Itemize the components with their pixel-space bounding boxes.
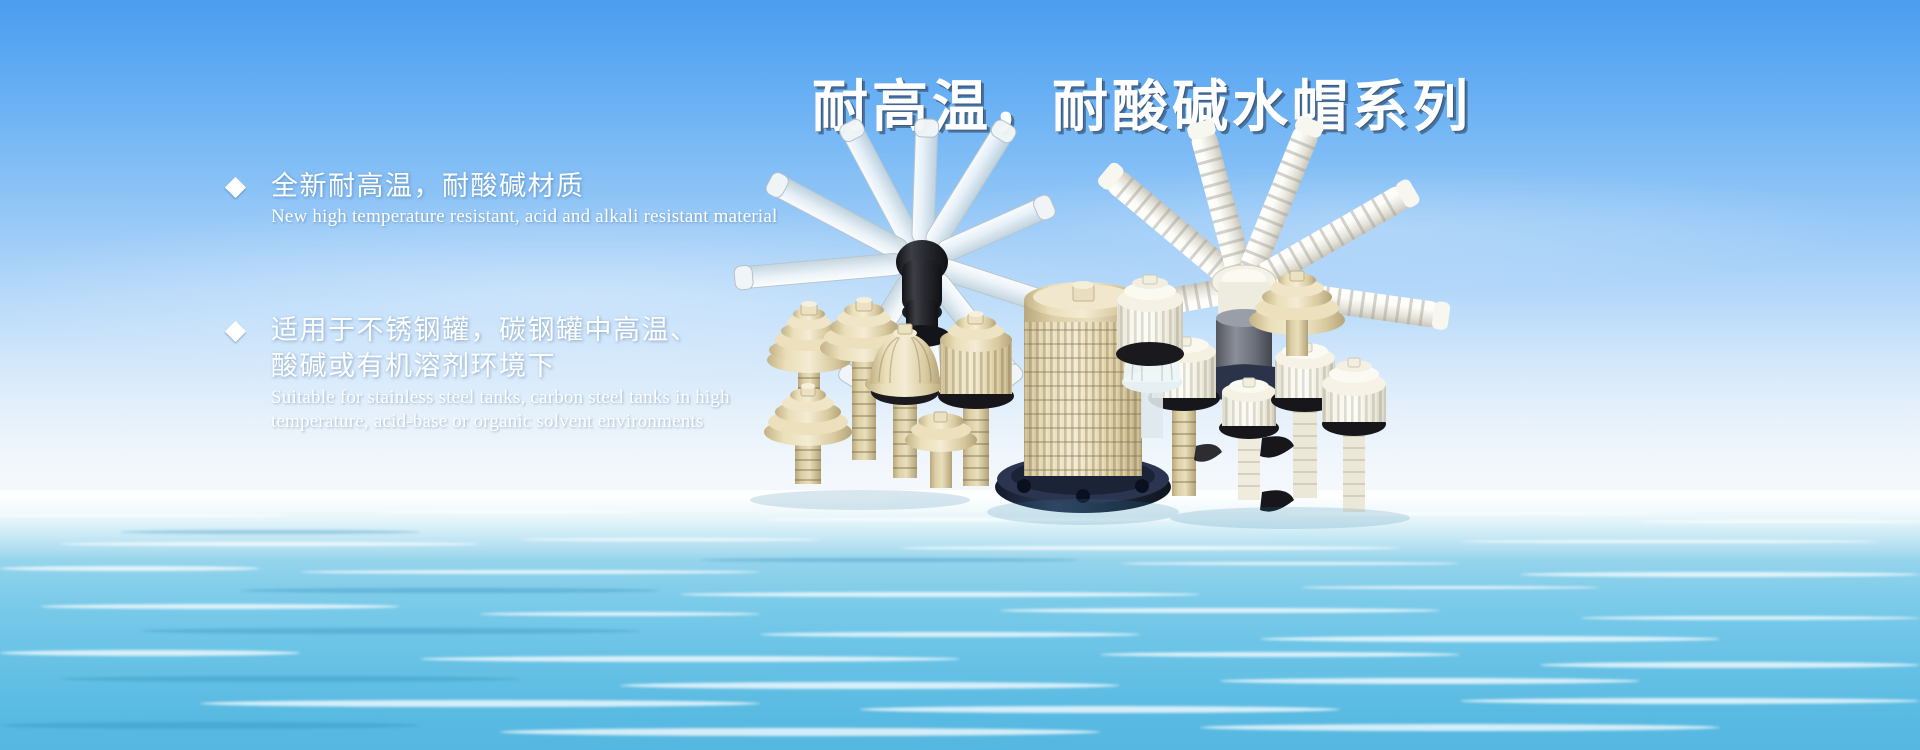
product-cluster-image <box>0 0 1920 750</box>
product-nozzle-k <box>1322 358 1386 512</box>
product-nozzle-c <box>764 383 852 484</box>
product-banner: 耐高温，耐酸碱水帽系列 全新耐高温，耐酸碱材质 New high tempera… <box>0 0 1920 750</box>
product-nozzle-m <box>1116 275 1184 366</box>
